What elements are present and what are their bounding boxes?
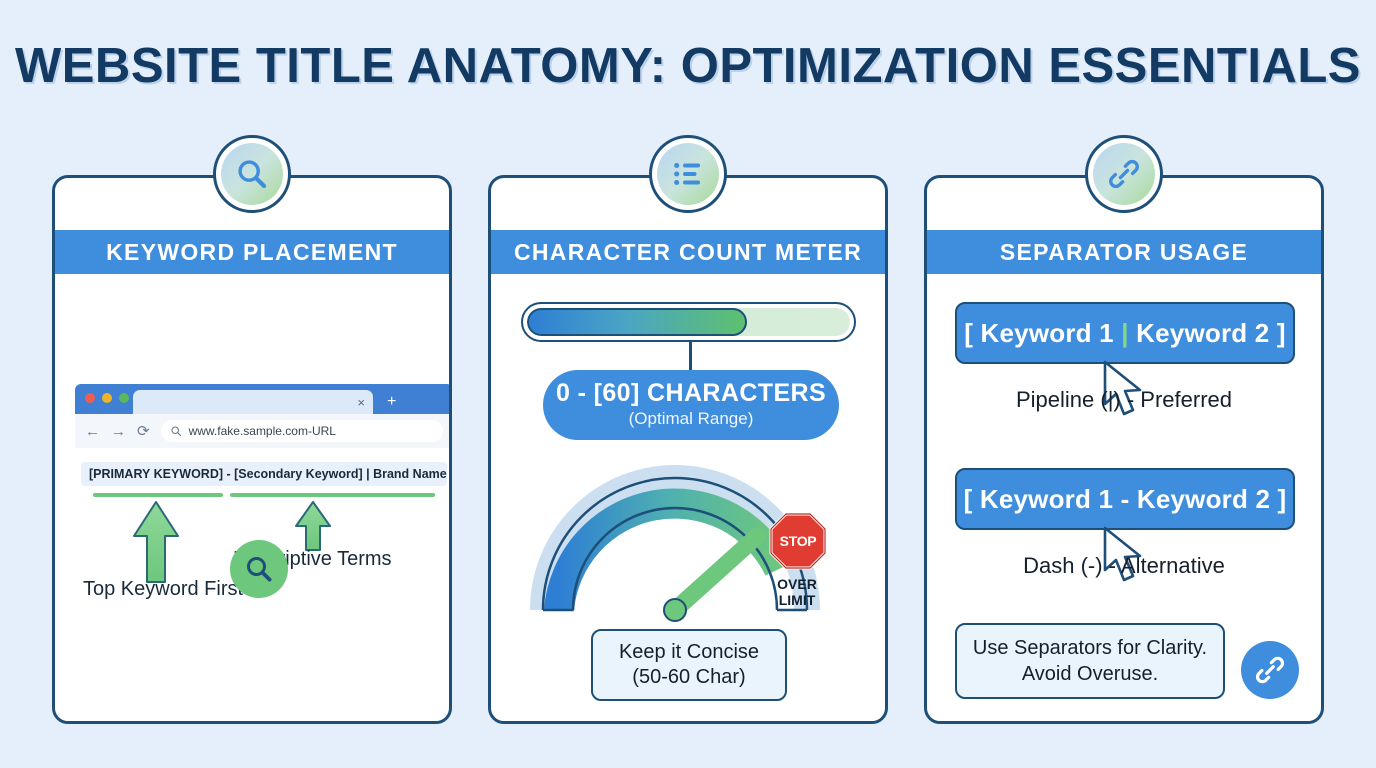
link-icon	[1254, 654, 1286, 686]
card-body-separator-usage: [ Keyword 1 | Keyword 2 ] Pipeline (|) -…	[927, 274, 1321, 721]
badge-inner	[657, 143, 719, 205]
card-header-label: SEPARATOR USAGE	[1000, 239, 1248, 266]
bulleted-list-icon	[671, 157, 705, 191]
range-main-label: 0 - [60] CHARACTERS	[556, 380, 826, 408]
close-window-dot[interactable]	[85, 393, 95, 403]
card-header-keyword-placement: KEYWORD PLACEMENT	[55, 230, 449, 274]
link-icon	[1107, 157, 1141, 191]
label-top-keyword-first: Top Keyword First	[83, 578, 243, 601]
magnifier-badge-footer[interactable]	[230, 540, 288, 598]
progress-fill	[527, 308, 747, 336]
card-header-separator-usage: SEPARATOR USAGE	[927, 230, 1321, 274]
card-body-keyword-placement: × + ← → ⟳ www.fake.sample.com-URL [PRIMA…	[55, 274, 449, 721]
title-tag-preview: [PRIMARY KEYWORD] - [Secondary Keyword] …	[81, 462, 447, 486]
separator-pill-text-dash: [ Keyword 1 - Keyword 2 ]	[964, 484, 1287, 515]
stop-label: STOP	[780, 533, 817, 549]
separator-suffix: Keyword 2 ]	[1129, 318, 1286, 348]
over-limit-line-2: LIMIT	[779, 592, 816, 608]
separator-caption-pipeline: Pipeline (|) - Preferred	[927, 387, 1321, 413]
browser-page-content: [PRIMARY KEYWORD] - [Secondary Keyword] …	[75, 448, 452, 634]
over-limit-label: OVER LIMIT	[757, 576, 837, 608]
magnifier-icon	[235, 157, 269, 191]
magnifier-icon	[244, 554, 274, 584]
clarity-advice-box: Use Separators for Clarity. Avoid Overus…	[955, 623, 1225, 699]
card-body-character-count: 0 - [60] CHARACTERS (Optimal Range)	[491, 274, 885, 721]
forward-arrow-icon[interactable]: →	[111, 424, 126, 439]
underline-primary-keyword	[93, 493, 223, 497]
arrow-up-icon-secondary	[291, 500, 335, 552]
character-gauge: STOP OVER LIMIT	[529, 464, 849, 644]
badge-character-count	[649, 135, 727, 213]
character-count-progress-bar	[521, 302, 856, 342]
close-icon[interactable]: ×	[357, 396, 365, 409]
separator-prefix: [ Keyword 1	[964, 318, 1121, 348]
badge-keyword-placement	[213, 135, 291, 213]
separator-pill-text-pipeline: [ Keyword 1 | Keyword 2 ]	[964, 318, 1285, 349]
underline-secondary-keyword	[230, 493, 435, 497]
badge-inner	[1093, 143, 1155, 205]
browser-url-bar: ← → ⟳ www.fake.sample.com-URL	[75, 414, 452, 448]
keep-concise-box: Keep it Concise (50-60 Char)	[591, 629, 787, 701]
optimal-range-pill: 0 - [60] CHARACTERS (Optimal Range)	[543, 370, 839, 440]
back-arrow-icon[interactable]: ←	[85, 424, 100, 439]
clarity-line-1: Use Separators for Clarity.	[963, 635, 1217, 661]
separator-prefix: [ Keyword 1	[964, 484, 1121, 514]
browser-mockup: × + ← → ⟳ www.fake.sample.com-URL [PRIMA…	[75, 384, 452, 634]
search-icon	[170, 425, 182, 437]
separator-symbol-pipe: |	[1121, 318, 1128, 348]
browser-tab-active[interactable]: ×	[133, 390, 373, 414]
url-text: www.fake.sample.com-URL	[189, 424, 336, 438]
badge-inner	[221, 143, 283, 205]
progress-track	[527, 308, 850, 336]
separator-pill-pipeline[interactable]: [ Keyword 1 | Keyword 2 ]	[955, 302, 1295, 364]
separator-caption-dash: Dash (-) - Alternative	[927, 553, 1321, 579]
range-sub-label: (Optimal Range)	[629, 408, 754, 430]
connector-line	[689, 342, 692, 370]
page-title: WEBSITE TITLE ANATOMY: OPTIMIZATION ESSE…	[0, 38, 1376, 94]
card-separator-usage: SEPARATOR USAGE [ Keyword 1 | Keyword 2 …	[924, 175, 1324, 724]
url-input[interactable]: www.fake.sample.com-URL	[161, 420, 443, 442]
concise-line-2: (50-60 Char)	[599, 665, 779, 690]
over-limit-line-1: OVER	[777, 576, 817, 592]
reload-icon[interactable]: ⟳	[137, 424, 150, 439]
maximize-window-dot[interactable]	[119, 393, 129, 403]
card-header-label: CHARACTER COUNT METER	[514, 239, 862, 266]
link-badge-footer[interactable]	[1241, 641, 1299, 699]
arrow-up-icon-primary	[127, 500, 185, 584]
card-header-character-count: CHARACTER COUNT METER	[491, 230, 885, 274]
separator-pill-dash[interactable]: [ Keyword 1 - Keyword 2 ]	[955, 468, 1295, 530]
badge-separator-usage	[1085, 135, 1163, 213]
minimize-window-dot[interactable]	[102, 393, 112, 403]
concise-line-1: Keep it Concise	[599, 640, 779, 665]
clarity-line-2: Avoid Overuse.	[963, 661, 1217, 687]
separator-suffix: Keyword 2 ]	[1129, 484, 1286, 514]
browser-tab-bar: × +	[75, 384, 452, 414]
card-header-label: KEYWORD PLACEMENT	[106, 239, 398, 266]
new-tab-icon[interactable]: +	[387, 394, 396, 410]
card-character-count-meter: CHARACTER COUNT METER 0 - [60] CHARACTER…	[488, 175, 888, 724]
stop-sign-badge: STOP	[769, 512, 827, 570]
window-controls	[85, 384, 129, 414]
card-keyword-placement: KEYWORD PLACEMENT × + ← → ⟳	[52, 175, 452, 724]
